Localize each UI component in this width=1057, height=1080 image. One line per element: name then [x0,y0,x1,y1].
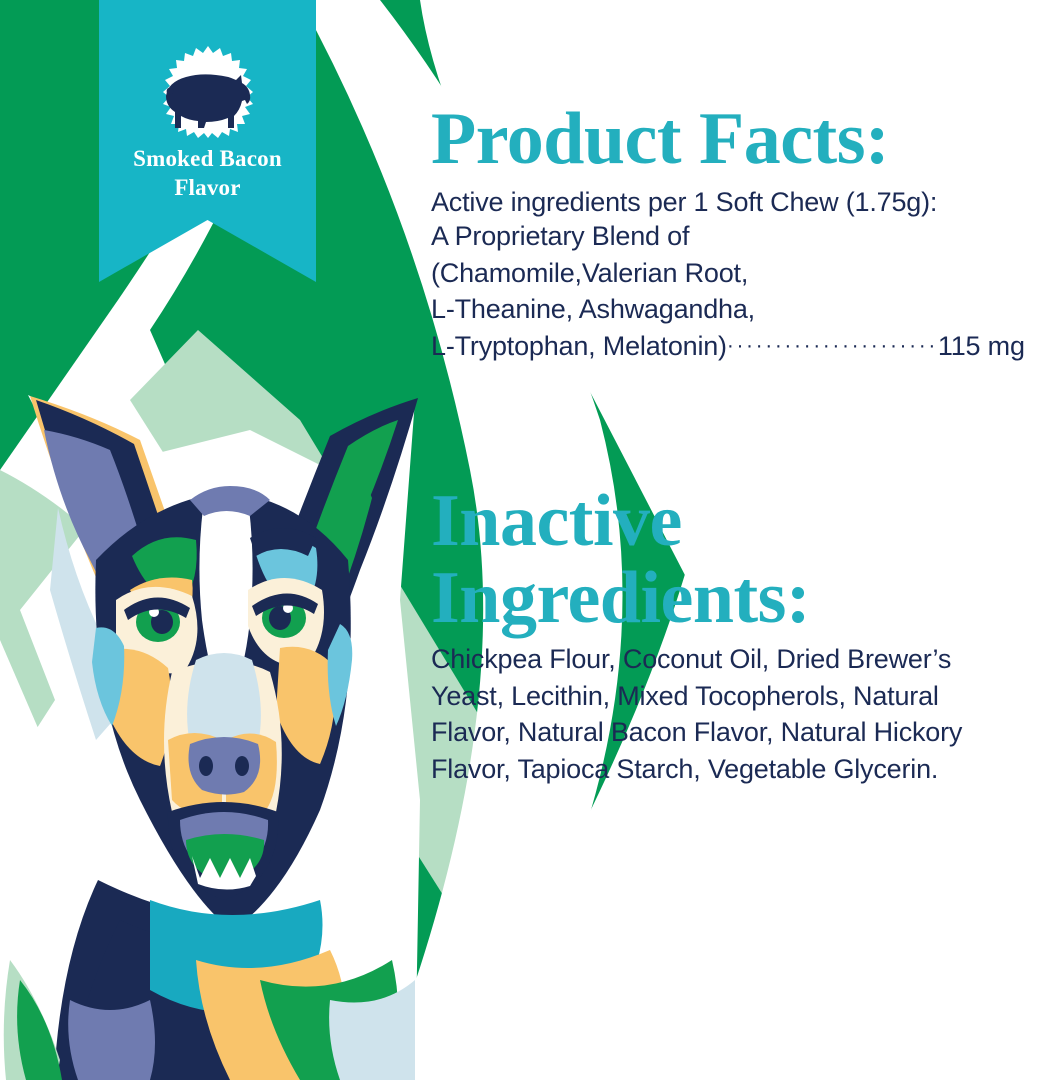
dog-body-teal-scarf [150,900,323,1013]
dog-nose-nostril-right [235,756,249,776]
dog-body-navy-main [70,920,320,1080]
dog-left-eye-pupil [151,610,173,634]
dog-left-eye-white [124,596,188,644]
dog-body-mint-left [4,960,60,1080]
dog-body-lightblue-wave [329,980,415,1080]
dog-head-base [95,492,350,930]
dog-neck-navy [54,880,240,1080]
pop-art-dog-illustration [0,395,420,1080]
dog-left-ear-lightblue [50,508,140,740]
mint-band [0,470,330,1080]
dog-left-eye-highlight [149,607,159,617]
dog-muzzle-bridge [187,653,261,752]
dog-right-eye-white [254,592,318,640]
dog-right-eye-iris [262,598,306,638]
dog-right-eye-pupil [269,606,291,630]
dog-silhouette-backing [0,395,420,1080]
blend-line-3: L-Theanine, Ashwagandha, [431,291,1057,328]
blend-line-2: (Chamomile,Valerian Root, [431,255,1057,292]
dog-right-eye-highlight [283,603,293,613]
dog-nose [189,737,261,795]
dog-left-cheek-yellow [108,649,172,766]
inactive-ingredients-body: Chickpea Flour, Coconut Oil, Dried Brewe… [431,641,991,788]
dog-left-ear-periwinkle [44,430,150,628]
dog-teeth [192,856,256,890]
dog-mouth-tongue [180,812,268,880]
active-ingredients-blend: A Proprietary Blend of (Chamomile,Valeri… [431,218,1057,365]
dog-right-ear-green2 [318,470,372,604]
dog-left-eye-patch [116,587,197,673]
dog-left-eye-lid [124,597,190,620]
dog-muzzle-yellow-right [226,733,277,815]
flavor-label-line2: Flavor [174,175,240,200]
dog-body-green-left [17,980,62,1080]
active-ingredients-subtitle: Active ingredients per 1 Soft Chew (1.75… [431,187,937,218]
dog-right-cheek-teal [328,624,353,726]
flavor-label-line1: Smoked Bacon [133,146,282,171]
dog-mouth-outline [168,802,278,900]
dog-muzzle [164,661,282,831]
dog-right-brow-teal [254,538,317,610]
inactive-ingredients-title: Inactive Ingredients: [431,483,991,635]
dog-left-brow-yellow [130,578,193,630]
dog-left-eye-iris [136,602,180,642]
dog-right-brow-navy [250,528,316,556]
dog-right-ear-outer [272,398,418,664]
bacon-badge [144,44,272,144]
dog-mouth-lower-green [186,834,264,884]
dog-right-ear-green [306,420,398,600]
dog-right-eye-patch [248,578,324,666]
dog-left-ear-outer [30,396,196,690]
dog-forehead-blaze [199,496,252,712]
active-amount: 115 mg [938,331,1025,361]
dog-muzzle-yellow-left [168,733,222,815]
dog-right-eye-lid [252,593,318,616]
dog-left-brow-green [132,537,197,604]
page-title: Product Facts: [431,102,889,176]
dog-left-ear-navy [36,400,186,682]
dog-nose-nostril-left [199,756,213,776]
dog-body-periwinkle-wave [68,1000,155,1080]
dog-forehead-periwinkle [190,486,270,516]
dog-right-ear-lightblue [266,560,340,720]
smoked-bacon-flavor-ribbon: Smoked Bacon Flavor [99,0,316,282]
leader-dots: ······················ [727,332,938,361]
dog-body-yellow-wave [196,950,345,1080]
blend-line-4-text: L-Tryptophan, Melatonin) [431,331,727,361]
blend-line-1: A Proprietary Blend of [431,218,1057,255]
blend-line-4: L-Tryptophan, Melatonin)················… [431,328,1057,365]
dog-left-cheek-teal [92,627,124,726]
product-facts-label: Smoked Bacon Flavor Product Facts: Activ… [0,0,1057,1080]
flavor-label: Smoked Bacon Flavor [99,145,316,203]
dog-body-green-wave [260,960,398,1080]
dog-right-cheek-yellow [276,647,335,764]
